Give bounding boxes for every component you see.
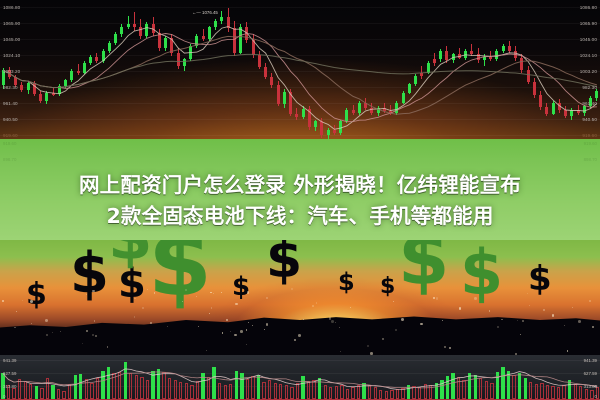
light-particle [459, 307, 462, 310]
price-axis-left-tick: 940.50 [3, 117, 18, 122]
light-particle [294, 339, 295, 340]
price-axis-right-tick: 1065.90 [580, 21, 597, 26]
dollar-sign-icon: $ [232, 274, 250, 300]
light-particle [16, 311, 17, 312]
volume-axis-left-tick: 313.80 [3, 384, 16, 389]
light-particle [240, 330, 243, 333]
light-particle [221, 292, 223, 294]
light-particle [543, 309, 545, 311]
price-axis-right-tick: 940.50 [582, 117, 597, 122]
light-particle [474, 297, 477, 300]
price-axis-right-tick: 982.30 [582, 85, 597, 90]
light-particle [234, 334, 237, 337]
volume-chart-panel: 941.39 627.59 313.80 0 941.39 627.59 313… [0, 355, 600, 400]
light-particle [248, 322, 249, 323]
dollar-sign-icon: $ [528, 262, 552, 296]
light-particle [264, 329, 265, 330]
price-chart-panel: 1086.80 1065.90 1045.00 1024.10 1003.20 … [0, 0, 600, 140]
light-particle [30, 300, 33, 303]
volume-ma-line [3, 369, 597, 390]
light-particle [291, 288, 293, 290]
light-particle [45, 319, 48, 322]
light-particle [529, 305, 531, 307]
light-particle [572, 307, 573, 308]
light-particle [589, 300, 591, 302]
light-particle [92, 290, 94, 292]
volume-axis-right-tick: 627.59 [584, 371, 597, 376]
dollar-sign-icon: $ [70, 246, 109, 302]
light-particle [331, 320, 334, 323]
headline-line-1: 网上配资门户怎么登录 外形揭晓！亿纬锂能宣布 [0, 170, 600, 201]
price-axis-left-tick: 961.40 [3, 101, 18, 106]
light-particle [182, 301, 183, 302]
sunset-photo: $ $ $ $ $ $ $ $ $ $ $ $ 视觉中国 ID: VCG21 [0, 240, 600, 360]
light-particle [436, 297, 439, 300]
volume-axis-right-tick: 941.39 [584, 358, 597, 363]
price-axis-left-tick: 982.30 [3, 85, 18, 90]
light-particle [142, 307, 144, 309]
light-particle [266, 323, 269, 326]
price-axis-left-tick: 1086.80 [3, 5, 20, 10]
light-particle [86, 330, 88, 332]
moving-average-lines [0, 0, 600, 140]
light-particle [86, 294, 87, 295]
ma-line [3, 36, 597, 114]
volume-axis-right-tick: 313.80 [584, 384, 597, 389]
volume-axis-right-tick: 0 [595, 394, 597, 399]
light-particle [211, 307, 213, 309]
light-particle [246, 329, 247, 330]
light-particle [316, 302, 318, 304]
light-particle [552, 314, 555, 317]
price-axis-right-tick: 1086.80 [580, 5, 597, 10]
dollar-sign-icon: $ [338, 270, 355, 294]
light-particle [222, 332, 224, 334]
volume-moving-average [0, 355, 600, 400]
light-particle [226, 319, 228, 321]
price-axis-right-tick: 961.40 [582, 101, 597, 106]
light-particle [247, 291, 249, 293]
volume-axis-left-tick: 627.59 [3, 371, 16, 376]
light-particle [150, 322, 152, 324]
light-particle [2, 300, 5, 303]
light-particle [22, 300, 23, 301]
stock-news-image: 1086.80 1065.90 1045.00 1024.10 1003.20 … [0, 0, 600, 400]
dollar-sign-icon: $ [148, 240, 212, 310]
price-axis-left-tick: 919.60 [3, 133, 18, 138]
dollar-sign-icon: $ [266, 240, 302, 286]
light-particle [46, 334, 48, 336]
ma-line [3, 27, 597, 130]
light-particle [303, 319, 304, 320]
headline-line-2: 2款全固态电池下线：汽车、手机等都能用 [0, 201, 600, 232]
light-particle [31, 323, 32, 324]
price-axis-left-tick: 1024.10 [3, 53, 20, 58]
light-particle [522, 320, 524, 322]
light-particle [134, 316, 136, 318]
light-particle [564, 325, 565, 326]
dollar-sign-icon: $ [26, 280, 47, 310]
light-particle [350, 307, 351, 308]
dollar-sign-icon: $ [460, 242, 503, 304]
light-particle [393, 301, 394, 302]
light-particle [266, 297, 269, 300]
price-axis-right-tick: 1045.00 [580, 37, 597, 42]
dollar-sign-icon: $ [380, 276, 395, 298]
light-particle [312, 305, 314, 307]
dollar-sign-icon: $ [398, 240, 450, 296]
light-particle [382, 338, 383, 339]
peak-annotation: ←— 1076.45 [192, 10, 218, 15]
light-particle [230, 331, 231, 332]
ma-line [3, 33, 597, 121]
price-axis-left-tick: 1065.90 [3, 21, 20, 26]
price-axis-right-tick: 1024.10 [580, 53, 597, 58]
hill-silhouette [0, 302, 600, 360]
price-axis-right-tick: 919.60 [582, 133, 597, 138]
light-particle [94, 320, 96, 322]
light-particle [235, 303, 237, 305]
light-particle [489, 310, 491, 312]
dollar-sign-icon: $ [108, 240, 153, 270]
light-particle [340, 351, 341, 352]
light-particle [213, 293, 214, 294]
volume-axis-left-tick: 941.39 [3, 358, 16, 363]
light-particle [147, 289, 148, 290]
light-particle [95, 335, 97, 337]
light-particle [578, 320, 581, 323]
price-axis-left-tick: 1045.00 [3, 37, 20, 42]
price-axis-right-tick: 1003.20 [580, 69, 597, 74]
price-axis-left-tick: 1003.20 [3, 69, 20, 74]
light-particle [210, 292, 212, 294]
volume-axis-left-tick: 0 [3, 394, 5, 399]
headline-text: 网上配资门户怎么登录 外形揭晓！亿纬锂能宣布 2款全固态电池下线：汽车、手机等都… [0, 170, 600, 232]
